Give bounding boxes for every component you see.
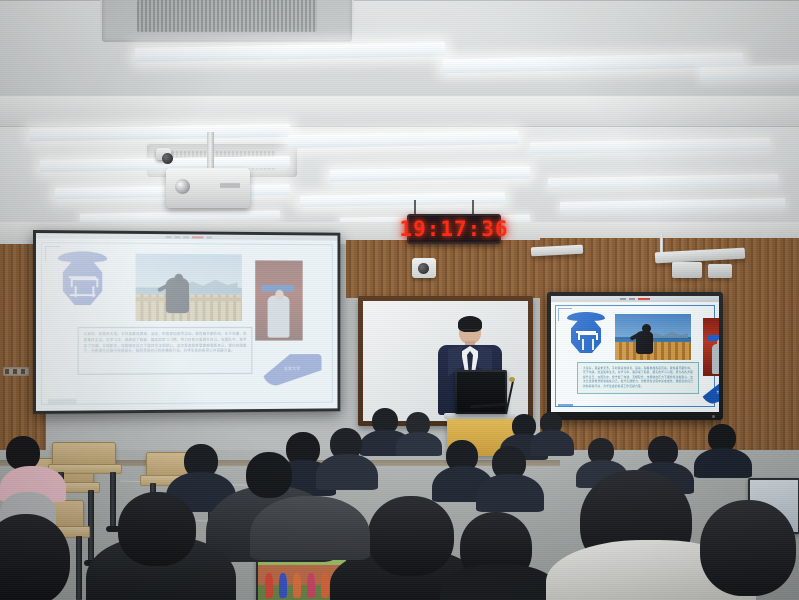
audience-shoulders (396, 432, 442, 456)
photo-person-head (174, 273, 183, 282)
ribbon-label: 长安大学 (284, 366, 301, 372)
toolbar-icon-4 (206, 236, 212, 238)
slide-photo-indoor (255, 260, 302, 340)
display-logo-bridge (578, 333, 598, 340)
projector-mount-pole (207, 132, 214, 170)
presenter-glasses-icon (461, 329, 479, 335)
photo-indoor-figure (268, 296, 290, 338)
display-record-icon (638, 298, 650, 300)
wall-outlet-left (3, 367, 29, 376)
display-photo-indoor-head (717, 339, 719, 347)
projector-lens-icon (175, 179, 190, 194)
display-screen: 大家好，我是朱天浩。平时我喜欢健身、运动，积极参加各项活动。我性格开朗外向，乐于… (551, 296, 719, 412)
record-button-icon[interactable] (192, 236, 204, 238)
university-logo (57, 251, 108, 307)
grey-coat-shoulders (250, 496, 370, 560)
slide-body-text: 大家好，我是朱天浩。平时我喜欢健身、运动，积极参加各项活动。我性格开朗外向，乐于… (84, 332, 247, 355)
clock-time-display: 19:17:36 (399, 217, 508, 241)
seat-leg (110, 472, 116, 528)
seat-leg (76, 536, 82, 600)
foreground-head-1 (118, 492, 196, 566)
display-university-logo (567, 312, 605, 354)
display-body-text: 大家好，我是朱天浩。平时我喜欢健身、运动，积极参加各项活动。我性格开朗外向，乐于… (583, 367, 693, 389)
display-ribbon-label: 长安大学 (716, 390, 719, 394)
ceiling-speaker-2 (708, 264, 732, 278)
display-toolbar-icon-2 (629, 298, 635, 300)
ceiling-beam-1 (0, 96, 799, 127)
display-toolbar-icon-1 (620, 298, 626, 300)
slide-photo-seaside (136, 254, 242, 321)
projector-brand-label (220, 183, 240, 188)
foreground-head-right-edge (700, 500, 796, 596)
projected-slide: 大家好，我是朱天浩。平时我喜欢健身、运动，积极参加各项活动。我性格开朗外向，乐于… (36, 233, 338, 411)
display-slide: 大家好，我是朱天浩。平时我喜欢健身、运动，积极参加各项活动。我性格开朗外向，乐于… (551, 296, 719, 412)
display-photo-indoor-figure (712, 344, 719, 374)
powerpoint-toolbar[interactable] (36, 233, 338, 240)
ac-vent-upper (100, 0, 354, 44)
audience-shoulders (316, 454, 378, 490)
microphone-head-icon (509, 377, 515, 382)
main-projection-screen: 大家好，我是朱天浩。平时我喜欢健身、运动，积极参加各项活动。我性格开朗外向，乐于… (33, 230, 340, 414)
audience-head-pink-shirt (6, 436, 40, 470)
laptop-img-figure-2 (279, 573, 287, 598)
heater-mount-rod (660, 234, 663, 252)
ceiling-speaker-1 (672, 262, 702, 278)
wall-mounted-display: 大家好，我是朱天浩。平时我喜欢健身、运动，积极参加各项活动。我性格开朗外向，乐于… (547, 292, 723, 420)
slide-footer-tab (48, 398, 76, 404)
laptop-img-figure-5 (321, 573, 329, 598)
audience-shoulders (476, 474, 544, 512)
display-powerpoint-toolbar (551, 296, 719, 302)
lecture-hall-photo: 19:17:36 (0, 0, 799, 600)
display-photo-seaside (615, 314, 691, 360)
wall-center-wood (346, 240, 556, 298)
laptop-img-figure-4 (307, 573, 315, 598)
slide-text-box: 大家好，我是朱天浩。平时我喜欢健身、运动，积极参加各项活动。我性格开朗外向，乐于… (78, 327, 253, 375)
display-text-box: 大家好，我是朱天浩。平时我喜欢健身、运动，积极参加各项活动。我性格开朗外向，乐于… (577, 362, 699, 394)
ceiling-light-3 (700, 65, 799, 81)
ceiling (0, 0, 799, 232)
display-photo-head (642, 324, 651, 333)
toolbar-icon-1 (166, 236, 172, 238)
wall-camera (412, 258, 436, 278)
wall-digital-clock: 19:17:36 (407, 214, 501, 244)
photo-indoor-head (275, 290, 284, 300)
display-photo-indoor (703, 318, 719, 376)
logo-bridge-base (70, 294, 96, 296)
foreground-head (246, 452, 292, 498)
toolbar-icon-3 (183, 236, 189, 238)
audience-shoulders (530, 430, 574, 456)
display-power-led (712, 415, 715, 418)
laptop-img-figure-3 (293, 573, 301, 598)
logo-bridge-icon (71, 278, 99, 287)
projection-surface: 大家好，我是朱天浩。平时我喜欢健身、运动，积极参加各项活动。我性格开朗外向，乐于… (36, 233, 338, 411)
audience-shoulders (694, 448, 752, 478)
display-footer-tab (558, 404, 573, 407)
ac-grille (137, 0, 317, 31)
laptop-img-figure-1 (265, 573, 273, 598)
ceiling-projector (166, 168, 250, 208)
display-photo-railing (615, 342, 691, 360)
foreground-head-2 (368, 496, 454, 576)
ceiling-camera (156, 148, 171, 160)
toolbar-icon-2 (174, 236, 180, 238)
